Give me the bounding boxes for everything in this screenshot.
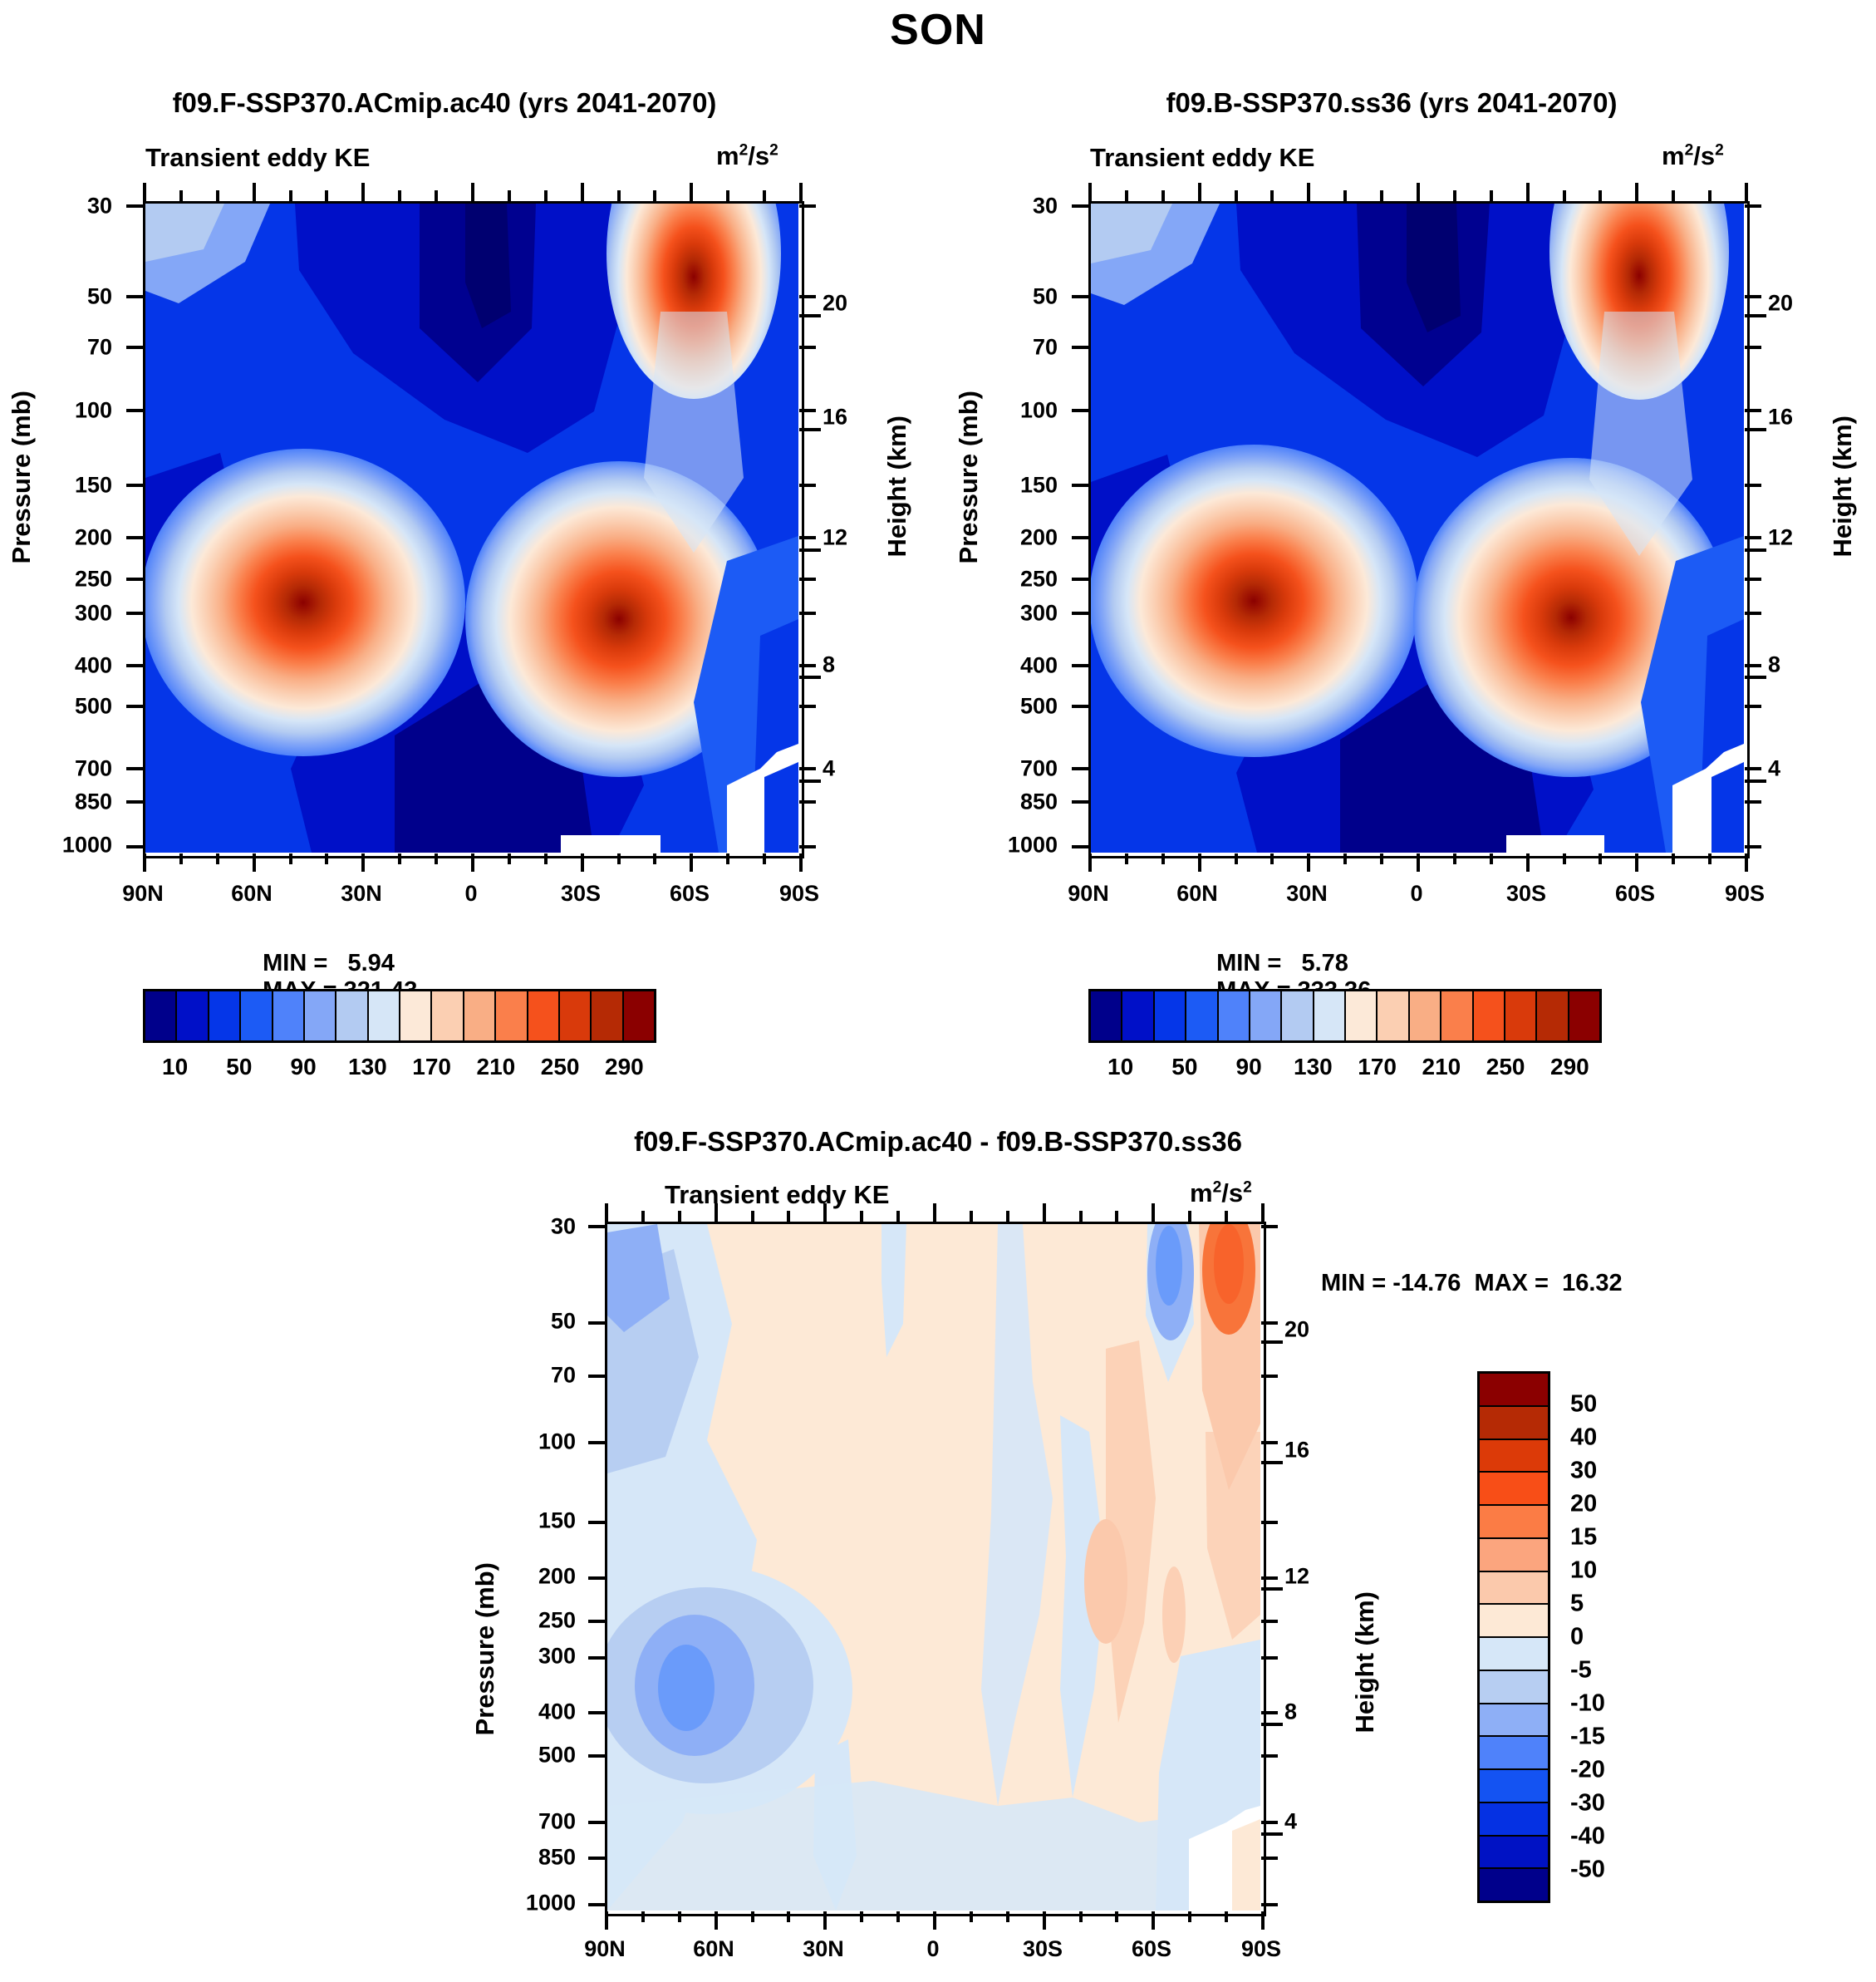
axis-tick [435,853,438,864]
axis-tick [1745,664,1761,667]
axis-tick [751,1911,754,1922]
axis-tick [933,1203,936,1222]
axis-tick [588,1375,605,1378]
height-axis-tick [1745,428,1766,431]
axis-tick [1115,1211,1118,1222]
colorbar-swatch-15 [624,991,654,1040]
colorbar-swatch-1 [177,991,209,1040]
colorbar-swatch-0 [1480,1374,1548,1407]
axis-tick [1072,705,1088,708]
ytick-70: 70 [25,335,112,361]
axis-tick [860,1911,863,1922]
diff-panel-minmax: MIN = -14.76 MAX = 16.32 [1321,1270,1623,1297]
colorbar-swatch-7 [1480,1605,1548,1638]
axis-tick [1490,853,1493,864]
axis-tick [1745,578,1761,581]
axis-tick [1261,1857,1278,1860]
xtick-0: 0 [1367,881,1466,907]
ytick-700: 700 [25,756,112,782]
axis-tick [1526,853,1530,872]
ytick-50: 50 [25,284,112,310]
colorbar-swatch-7 [1314,991,1346,1040]
diff-panel-colorbar[interactable] [1477,1371,1550,1903]
ytick-1000: 1000 [17,833,112,858]
right-panel-contour-field [1091,204,1744,853]
axis-tick [126,845,143,848]
ytick-30: 30 [970,194,1058,219]
axis-tick [1526,183,1530,201]
colorbar-swatch-13 [1505,991,1537,1040]
colorbar-label-neg15: -15 [1570,1724,1605,1751]
axis-tick [1072,664,1088,667]
axis-tick [126,295,143,298]
colorbar-swatch-10 [1410,991,1441,1040]
axis-tick [1745,845,1761,848]
ytick-250: 250 [25,567,112,593]
axis-tick [1161,190,1165,201]
height-axis-tick [1261,1832,1283,1836]
y2tick-16: 16 [823,405,881,430]
colorbar-swatch-8 [1480,1638,1548,1671]
axis-tick [823,1911,827,1930]
colorbar-swatch-10 [464,991,496,1040]
axis-tick [398,190,401,201]
axis-tick [588,1754,605,1758]
left-panel-colorbar[interactable] [143,989,656,1043]
axis-tick [1261,1521,1278,1524]
axis-tick [1198,853,1201,872]
axis-tick [605,1203,608,1222]
axis-tick [253,853,256,872]
axis-tick [751,1211,754,1222]
xtick-60N: 60N [664,1936,764,1962]
axis-tick [799,767,816,770]
xtick-60S: 60S [1102,1936,1201,1962]
ytick-200: 200 [970,525,1058,551]
axis-tick [126,409,143,412]
colorbar-label-neg40: -40 [1570,1823,1605,1851]
diff-panel-title: f09.F-SSP370.ACmip.ac40 - f09.B-SSP370.s… [440,1126,1436,1158]
axis-tick [126,705,143,708]
ytick-1000: 1000 [480,1891,576,1916]
axis-tick [1261,1441,1278,1444]
colorbar-swatch-5 [1480,1539,1548,1572]
right-panel-plot [1088,201,1750,858]
y2tick-8: 8 [823,652,881,678]
colorbar-swatch-14 [1480,1837,1548,1870]
axis-tick [1745,800,1761,804]
axis-tick [1745,767,1761,770]
axis-tick [1079,1911,1083,1922]
height-axis-tick [1745,780,1766,783]
axis-tick [1006,1911,1009,1922]
height-axis-tick [799,548,821,552]
axis-tick [970,1211,973,1222]
ytick-70: 70 [970,335,1058,361]
right-panel-title: f09.B-SSP370.ss36 (yrs 2041-2070) [997,87,1786,119]
units-denominator: /s [748,141,769,170]
y2tick-4: 4 [1768,756,1826,782]
units-denominator: /s [1221,1178,1243,1207]
height-axis-tick [1261,1461,1283,1464]
axis-tick [143,853,146,872]
height-axis-tick [1261,1340,1283,1344]
axis-tick [1261,1754,1278,1758]
colorbar-swatch-12 [1474,991,1505,1040]
left-panel-plot [143,201,804,858]
ytick-100: 100 [25,398,112,424]
right-panel-colorbar[interactable] [1088,989,1602,1043]
axis-tick [1307,853,1310,872]
xtick-90N: 90N [555,1936,655,1962]
left-panel-units: m2/s2 [716,141,778,171]
colorbar-swatch-2 [1155,991,1186,1040]
diff-panel-units: m2/s2 [1190,1178,1252,1208]
ytick-500: 500 [970,694,1058,720]
colorbar-swatch-4 [273,991,305,1040]
axis-tick [1072,800,1088,804]
axis-tick [799,853,803,872]
axis-tick [588,1521,605,1524]
axis-tick [715,1911,718,1930]
axis-tick [1307,183,1310,201]
y2tick-12: 12 [1284,1564,1343,1590]
axis-tick [126,204,143,208]
xtick-30N: 30N [312,881,411,907]
axis-tick [799,484,816,487]
axis-tick [1745,484,1761,487]
axis-tick [690,183,693,201]
axis-tick [799,800,816,804]
y2tick-12: 12 [823,525,881,551]
axis-tick [361,183,365,201]
axis-tick [544,190,548,201]
left-panel-y2label: Height (km) [882,416,912,558]
axis-tick [588,1903,605,1906]
ytick-400: 400 [970,653,1058,679]
axis-tick [1125,190,1128,201]
axis-tick [763,190,766,201]
axis-tick [799,204,816,208]
axis-tick [799,845,816,848]
height-axis-tick [1745,314,1766,317]
axis-tick [1261,1375,1278,1378]
axis-tick [1261,1321,1278,1325]
height-axis-tick [1261,1587,1283,1591]
axis-tick [799,578,816,581]
axis-tick [1225,1911,1228,1922]
axis-tick [799,612,816,615]
colorbar-swatch-13 [1480,1803,1548,1837]
colorbar-swatch-9 [1480,1671,1548,1704]
axis-tick [799,705,816,708]
diff-panel-y2label: Height (km) [1350,1591,1380,1734]
xtick-90N: 90N [93,881,193,907]
ytick-500: 500 [489,1743,576,1768]
axis-tick [617,190,621,201]
axis-tick [126,800,143,804]
colorbar-swatch-9 [432,991,464,1040]
colorbar-swatch-5 [1250,991,1282,1040]
axis-tick [325,853,328,864]
axis-tick [1745,705,1761,708]
axis-tick [1417,853,1420,872]
axis-tick [508,190,511,201]
axis-tick [1270,853,1274,864]
axis-tick [581,853,584,872]
axis-tick [726,190,729,201]
axis-tick [1072,204,1088,208]
ytick-150: 150 [489,1508,576,1534]
ytick-250: 250 [489,1608,576,1634]
y2tick-8: 8 [1768,652,1826,678]
colorbar-label-5: 5 [1570,1591,1584,1618]
axis-tick [126,578,143,581]
axis-tick [1672,190,1675,201]
left-panel-contour-field [145,204,798,853]
axis-tick [1198,183,1201,201]
axis-tick [1072,484,1088,487]
colorbar-label-290: 290 [574,1054,674,1080]
axis-tick [799,183,803,201]
colorbar-swatch-6 [1480,1572,1548,1606]
axis-tick [588,1321,605,1325]
ytick-150: 150 [970,473,1058,499]
left-panel-min: MIN = 5.94 [263,950,395,976]
axis-tick [1261,1911,1265,1930]
axis-tick [787,1911,790,1922]
axis-tick [1745,853,1748,872]
axis-tick [1261,1656,1278,1660]
axis-tick [126,612,143,615]
colorbar-label-neg50: -50 [1570,1857,1605,1884]
colorbar-label-0: 0 [1570,1624,1584,1651]
colorbar-label-neg5: -5 [1570,1657,1592,1684]
xtick-30S: 30S [1476,881,1576,907]
units-denominator-exponent: 2 [769,142,778,160]
page-title: SON [0,5,1876,55]
ytick-70: 70 [489,1363,576,1389]
right-panel-y2label: Height (km) [1828,416,1858,558]
axis-tick [1417,183,1420,201]
y2tick-8: 8 [1284,1699,1343,1725]
axis-tick [1635,183,1638,201]
diff-panel-contour-field [607,1224,1260,1911]
ytick-200: 200 [25,525,112,551]
units-exponent: 2 [1685,142,1694,160]
colorbar-swatch-2 [1480,1440,1548,1473]
xtick-60S: 60S [640,881,739,907]
colorbar-label-40: 40 [1570,1424,1597,1452]
xtick-0: 0 [883,1936,983,1962]
axis-tick [896,1211,900,1222]
axis-tick [1072,578,1088,581]
axis-tick [508,853,511,864]
colorbar-swatch-2 [209,991,241,1040]
colorbar-label-290: 290 [1520,1054,1619,1080]
axis-tick [1672,853,1675,864]
axis-tick [588,1821,605,1824]
axis-tick [1380,190,1383,201]
colorbar-swatch-1 [1480,1407,1548,1440]
axis-tick [179,190,183,201]
colorbar-swatch-11 [496,991,528,1040]
axis-tick [860,1211,863,1222]
y2tick-16: 16 [1768,405,1826,430]
xtick-30N: 30N [773,1936,873,1962]
axis-tick [641,1911,645,1922]
ytick-850: 850 [25,789,112,815]
height-axis-tick [799,780,821,783]
axis-tick [799,346,816,349]
diff-panel-plot [605,1222,1266,1916]
ytick-250: 250 [970,567,1058,593]
axis-tick [253,183,256,201]
ytick-850: 850 [970,789,1058,815]
axis-tick [1745,204,1761,208]
diff-panel-subtitle: Transient eddy KE [665,1180,889,1210]
axis-tick [581,183,584,201]
ytick-100: 100 [970,398,1058,424]
ytick-500: 500 [25,694,112,720]
ytick-30: 30 [489,1214,576,1240]
colorbar-swatch-11 [1441,991,1473,1040]
height-axis-tick [799,676,821,679]
colorbar-swatch-13 [560,991,592,1040]
axis-tick [1225,1211,1228,1222]
axis-tick [1072,295,1088,298]
axis-tick [361,853,365,872]
axis-tick [588,1711,605,1714]
y2tick-12: 12 [1768,525,1826,551]
axis-tick [126,767,143,770]
units-base: m [716,141,739,170]
axis-tick [588,1620,605,1623]
axis-tick [1072,346,1088,349]
axis-tick [1563,853,1566,864]
height-axis-tick [1261,1723,1283,1726]
y2tick-20: 20 [823,291,881,317]
colorbar-label-10: 10 [1570,1557,1597,1585]
axis-tick [544,853,548,864]
y2tick-4: 4 [823,756,881,782]
axis-tick [179,853,183,864]
xtick-30S: 30S [531,881,631,907]
axis-tick [1261,1711,1278,1714]
colorbar-swatch-14 [592,991,623,1040]
axis-tick [678,1211,681,1222]
xtick-90S: 90S [1211,1936,1311,1962]
axis-tick [1261,1903,1278,1906]
units-exponent: 2 [739,142,749,160]
axis-tick [823,1203,827,1222]
colorbar-swatch-5 [305,991,336,1040]
colorbar-swatch-1 [1122,991,1154,1040]
ytick-50: 50 [970,284,1058,310]
ytick-30: 30 [25,194,112,219]
axis-tick [588,1857,605,1860]
axis-tick [126,484,143,487]
axis-tick [970,1911,973,1922]
axis-tick [588,1225,605,1228]
xtick-90N: 90N [1039,881,1138,907]
axis-tick [1745,295,1761,298]
axis-tick [588,1441,605,1444]
axis-tick [1261,1576,1278,1580]
right-panel-min: MIN = 5.78 [1216,950,1348,976]
axis-tick [690,853,693,872]
colorbar-label-neg20: -20 [1570,1757,1605,1784]
colorbar-swatch-3 [241,991,273,1040]
axis-tick [126,664,143,667]
ytick-400: 400 [25,653,112,679]
axis-tick [896,1911,900,1922]
axis-tick [216,853,219,864]
right-panel-subtitle: Transient eddy KE [1090,143,1314,173]
units-base: m [1662,141,1685,170]
axis-tick [1088,853,1092,872]
axis-tick [799,409,816,412]
axis-tick [126,346,143,349]
units-exponent: 2 [1213,1179,1222,1197]
axis-tick [1453,853,1456,864]
units-denominator-exponent: 2 [1243,1179,1252,1197]
axis-tick [289,190,292,201]
axis-tick [1152,1203,1155,1222]
colorbar-swatch-0 [145,991,177,1040]
colorbar-swatch-15 [1569,991,1599,1040]
ytick-300: 300 [970,601,1058,627]
axis-tick [1043,1911,1046,1930]
axis-tick [1599,190,1602,201]
axis-tick [1235,190,1238,201]
colorbar-swatch-3 [1480,1473,1548,1506]
axis-tick [1745,183,1748,201]
axis-tick [1152,1911,1155,1930]
colorbar-swatch-15 [1480,1869,1548,1901]
axis-tick [143,183,146,201]
colorbar-label-neg30: -30 [1570,1790,1605,1817]
units-denominator-exponent: 2 [1715,142,1724,160]
axis-tick [1006,1211,1009,1222]
colorbar-swatch-9 [1378,991,1409,1040]
axis-tick [726,853,729,864]
colorbar-swatch-4 [1480,1506,1548,1539]
colorbar-label-20: 20 [1570,1491,1597,1518]
axis-tick [398,853,401,864]
xtick-60N: 60N [1147,881,1247,907]
axis-tick [1188,1911,1191,1922]
axis-tick [1745,536,1761,539]
colorbar-swatch-8 [400,991,432,1040]
axis-tick [763,853,766,864]
ytick-50: 50 [489,1309,576,1335]
xtick-60N: 60N [202,881,302,907]
colorbar-swatch-8 [1346,991,1378,1040]
right-panel-units: m2/s2 [1662,141,1724,171]
axis-tick [325,190,328,201]
axis-tick [1125,853,1128,864]
xtick-30S: 30S [993,1936,1093,1962]
colorbar-swatch-4 [1219,991,1250,1040]
axis-tick [1708,853,1711,864]
axis-tick [1088,183,1092,201]
axis-tick [1343,853,1347,864]
axis-tick [1161,853,1165,864]
axis-tick [678,1911,681,1922]
axis-tick [1072,612,1088,615]
axis-tick [1115,1911,1118,1922]
